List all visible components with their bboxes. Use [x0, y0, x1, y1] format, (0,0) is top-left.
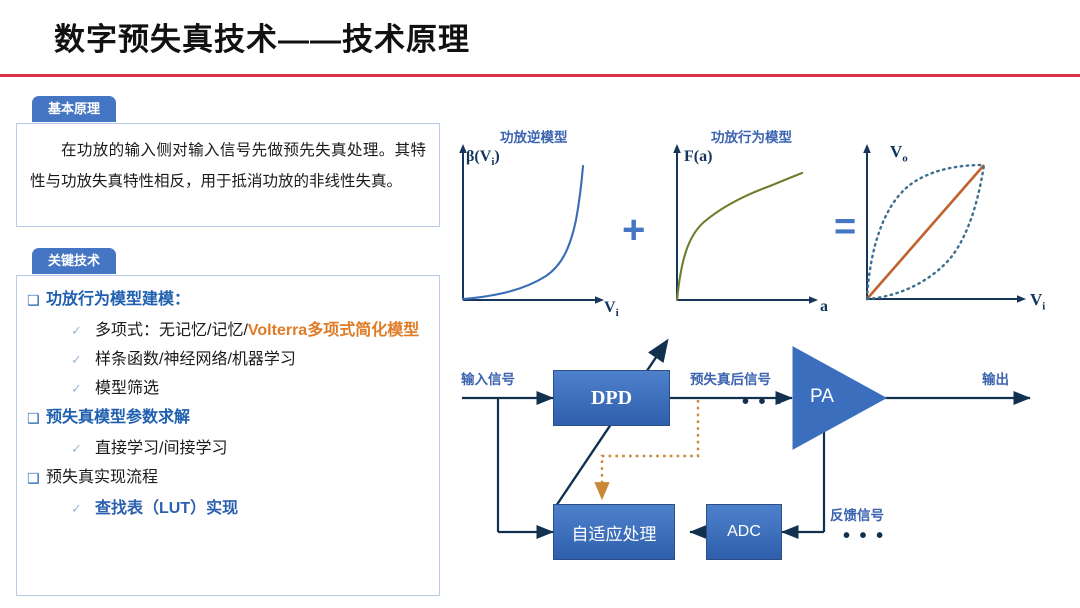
square-bullet-icon: ❑: [27, 285, 46, 315]
pa-triangle-icon: [792, 346, 888, 450]
slide-root: 数字预失真技术——技术原理 基本原理 在功放的输入侧对输入信号先做预先失真处理。…: [0, 0, 1080, 608]
list-item-label: 预失真实现流程: [46, 463, 158, 493]
block-dpd[interactable]: DPD: [553, 370, 670, 426]
basic-principle-text: 在功放的输入侧对输入信号先做预先失真处理。其特性与功放失真特性相反，用于抵消功放…: [17, 124, 439, 197]
list-item-label: 查找表（LUT）实现: [95, 494, 238, 523]
label-input-signal: 输入信号: [461, 368, 515, 388]
block-pa-label: PA: [810, 386, 834, 408]
list-item-label: 功放行为模型建模：: [46, 285, 190, 315]
panel-key-technology-body: ❑ 功放行为模型建模： ✓ 多项式：无记忆/记忆/Volterra多项式简化模型…: [16, 275, 440, 596]
check-bullet-icon: ✓: [71, 434, 95, 463]
check-bullet-icon: ✓: [71, 345, 95, 374]
list-item: ✓ 查找表（LUT）实现: [71, 494, 431, 523]
ellipsis-feedback: • • •: [843, 526, 885, 546]
list-item-label: 直接学习/间接学习: [95, 434, 227, 463]
block-dpd-label: DPD: [591, 387, 632, 410]
label-predistorted-signal: 预失真后信号: [690, 368, 771, 388]
plus-operator-icon: +: [622, 210, 645, 250]
block-adaptive-processing[interactable]: 自适应处理: [553, 504, 675, 560]
chart3-plot: [856, 134, 1036, 324]
list-item: ✓ 模型筛选: [71, 374, 431, 403]
chart2-plot: [666, 140, 826, 330]
ellipsis-predistorted: • • •: [742, 392, 784, 412]
square-bullet-icon: ❑: [27, 463, 46, 493]
check-bullet-icon: ✓: [71, 374, 95, 403]
square-bullet-icon: ❑: [27, 403, 46, 433]
panel-basic-principle-tab: 基本原理: [32, 96, 116, 122]
check-bullet-icon: ✓: [71, 494, 95, 523]
curve-figure-row: 功放逆模型 β(Vi) Vi + 功放行为模型 F(a) a = Vo Vi: [452, 126, 1072, 326]
equals-operator-icon: =: [834, 208, 856, 246]
panel-key-technology: 关键技术 ❑ 功放行为模型建模： ✓ 多项式：无记忆/记忆/Volterra多项…: [16, 248, 440, 596]
list-item-label: 多项式：无记忆/记忆/Volterra多项式简化模型: [95, 316, 419, 345]
block-adc[interactable]: ADC: [706, 504, 782, 560]
label-feedback-signal: 反馈信号: [830, 504, 884, 524]
list-item: ❑ 功放行为模型建模：: [27, 285, 431, 315]
list-item: ✓ 样条函数/神经网络/机器学习: [71, 345, 431, 374]
panel-basic-principle: 基本原理 在功放的输入侧对输入信号先做预先失真处理。其特性与功放失真特性相反，用…: [16, 96, 440, 227]
key-technology-list: ❑ 功放行为模型建模： ✓ 多项式：无记忆/记忆/Volterra多项式简化模型…: [17, 276, 439, 523]
list-item: ✓ 直接学习/间接学习: [71, 434, 431, 463]
list-item-label: 模型筛选: [95, 374, 159, 403]
block-adc-label: ADC: [727, 523, 761, 541]
label-output: 输出: [982, 368, 1009, 388]
panel-basic-principle-body: 在功放的输入侧对输入信号先做预先失真处理。其特性与功放失真特性相反，用于抵消功放…: [16, 123, 440, 227]
list-item-label: 样条函数/神经网络/机器学习: [95, 345, 296, 374]
check-bullet-icon: ✓: [71, 316, 95, 345]
block-adaptive-processing-label: 自适应处理: [572, 520, 657, 545]
page-title: 数字预失真技术——技术原理: [54, 14, 470, 59]
list-item: ❑ 预失真实现流程: [27, 463, 431, 493]
dpd-block-diagram: DPD PA 自适应处理 ADC 输入信号 预失真后信号 输出 反馈信号 • •…: [452, 330, 1080, 608]
panel-key-technology-tab: 关键技术: [32, 248, 116, 274]
list-item-highlight: Volterra多项式简化模型: [248, 322, 419, 339]
block-pa[interactable]: PA: [792, 346, 888, 450]
title-underline-rule: [0, 74, 1080, 77]
list-item: ❑ 预失真模型参数求解: [27, 403, 431, 433]
chart1-plot: [452, 140, 612, 330]
list-item-label: 预失真模型参数求解: [46, 403, 190, 433]
list-item: ✓ 多项式：无记忆/记忆/Volterra多项式简化模型: [71, 316, 431, 345]
